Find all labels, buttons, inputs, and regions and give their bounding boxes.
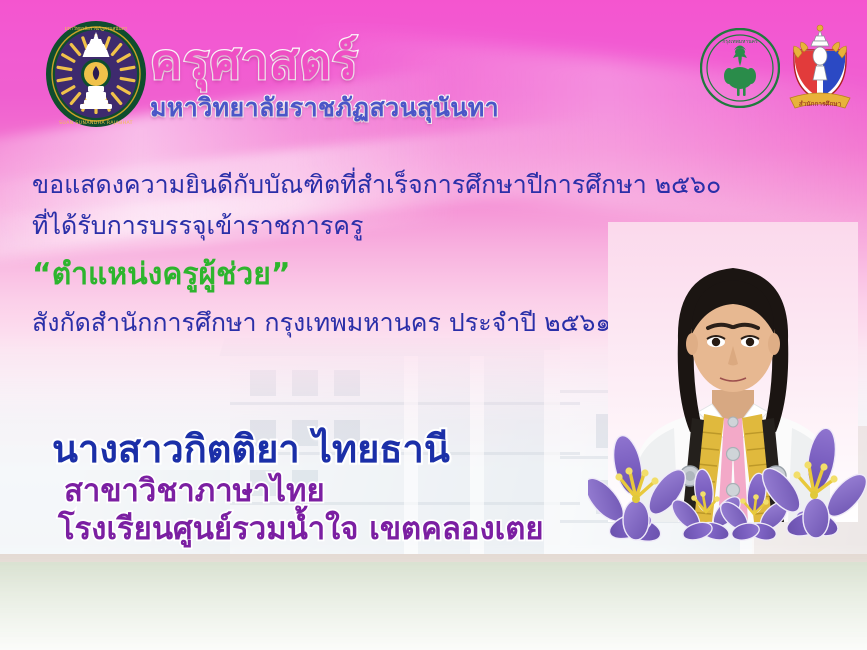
svg-text:กรุงเทพมหานคร: กรุงเทพมหานคร <box>722 39 758 45</box>
svg-text:มหาวิทยาลัยราชภัฏสวนสุนันทา: มหาวิทยาลัยราชภัฏสวนสุนันทา <box>65 25 128 32</box>
svg-text:SUAN SUNANDHA RAJABHAT: SUAN SUNANDHA RAJABHAT <box>59 120 133 126</box>
graduate-full-name: นางสาวกิตติยา ไทยธานี <box>52 428 672 471</box>
university-name: มหาวิทยาลัยราชภัฏสวนสุนันทา <box>150 88 570 128</box>
graduate-school: โรงเรียนศูนย์รวมน้ำใจ เขตคลองเตย <box>58 511 672 548</box>
building-window <box>292 370 318 396</box>
department-of-education-emblem: สำนักการศึกษา <box>782 24 858 116</box>
faculty-name: ครุศาสตร์ <box>150 38 570 86</box>
congratulation-poster: มหาวิทยาลัยราชภัฏสวนสุนันทา SUAN SUNANDH… <box>0 0 867 650</box>
grass-field <box>0 562 867 650</box>
header-wordmark: ครุศาสตร์ มหาวิทยาลัยราชภัฏสวนสุนันทา <box>150 38 570 128</box>
graduate-major: สาขาวิชาภาษาไทย <box>64 473 672 510</box>
building-roof <box>219 338 590 356</box>
congratulations-line: ขอแสดงความยินดีกับบัณฑิตที่สำเร็จการศึกษ… <box>32 168 792 203</box>
building-window <box>334 370 360 396</box>
bangkok-metropolitan-administration-seal: กรุงเทพมหานคร <box>700 28 780 108</box>
graduate-info-block: นางสาวกิตติยา ไทยธานี สาขาวิชาภาษาไทย โร… <box>52 428 672 548</box>
svg-text:สำนักการศึกษา: สำนักการศึกษา <box>799 100 841 108</box>
suan-sunandha-rajabhat-university-seal: มหาวิทยาลัยราชภัฏสวนสุนันทา SUAN SUNANDH… <box>44 20 148 128</box>
building-window <box>250 370 276 396</box>
